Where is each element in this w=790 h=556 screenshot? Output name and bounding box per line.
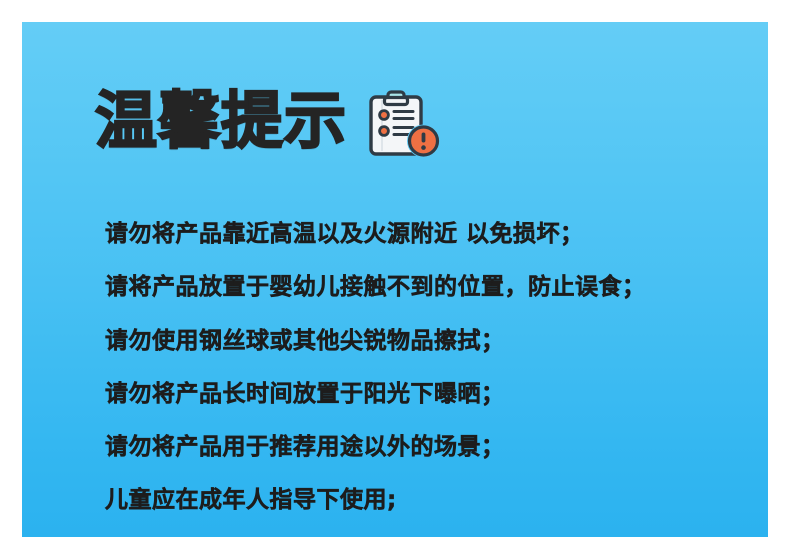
notice-line: 请勿将产品用于推荐用途以外的场景； xyxy=(105,421,744,474)
notice-line: 请将产品放置于婴幼儿接触不到的位置，防止误食； xyxy=(105,261,744,314)
notice-poster: 温馨提示 xyxy=(0,0,790,556)
notice-list: 请勿将产品靠近高温以及火源附近 以免损坏； 请将产品放置于婴幼儿接触不到的位置，… xyxy=(105,208,744,528)
notice-line: 儿童应在成年人指导下使用; xyxy=(105,474,744,527)
page-title: 温馨提示 xyxy=(95,90,347,152)
title-row: 温馨提示 xyxy=(95,82,445,160)
clipboard-warning-icon xyxy=(367,90,445,160)
gradient-panel: 温馨提示 xyxy=(22,22,768,537)
notice-line: 请勿将产品长时间放置于阳光下曝晒； xyxy=(105,368,744,421)
notice-line: 请勿使用钢丝球或其他尖锐物品擦拭； xyxy=(105,315,744,368)
notice-line: 请勿将产品靠近高温以及火源附近 以免损坏； xyxy=(105,208,744,261)
